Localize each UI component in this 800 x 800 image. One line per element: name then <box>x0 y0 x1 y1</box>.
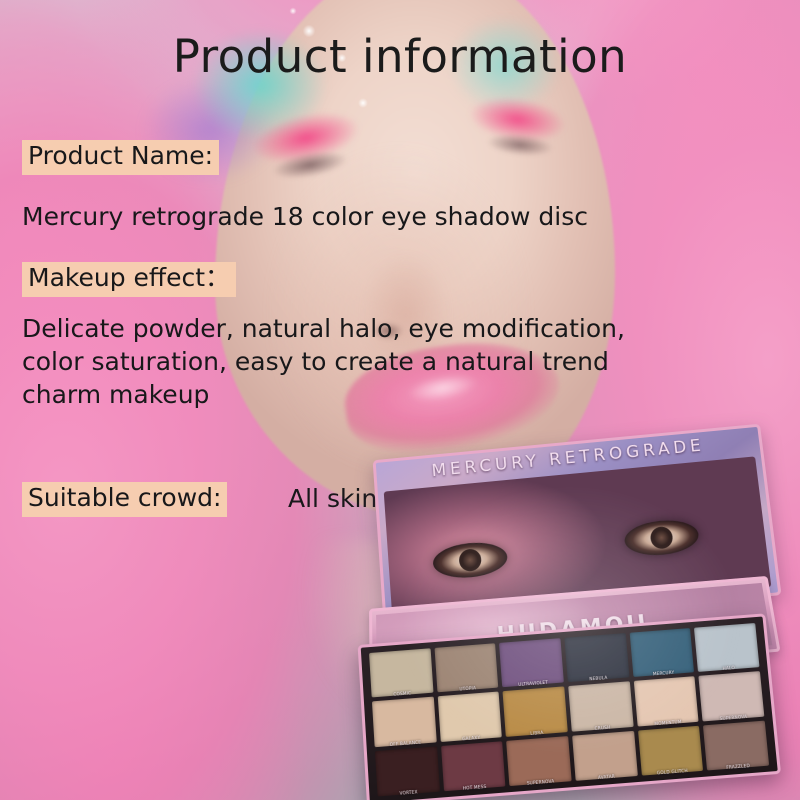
eyeshadow-pan: COSMIC <box>369 648 433 697</box>
page-title: Product information <box>0 30 800 83</box>
lid-artwork-pupil-left <box>458 548 482 572</box>
glitter-sparkle-icon <box>356 96 370 110</box>
eyeshadow-pan: OFF BALANCE <box>372 697 436 747</box>
eyeshadow-pan: HOT MESS <box>441 741 506 791</box>
eyeshadow-pan: LIBRA <box>503 687 568 737</box>
eyeshadow-pan: MOMENTUM <box>633 676 698 726</box>
eyeshadow-pan: ULTRAVIOLET <box>499 638 564 687</box>
eyeshadow-pan: HALO <box>694 623 759 672</box>
makeup-effect-label: Makeup effect： <box>22 262 236 297</box>
eyeshadow-pan: VORTEX <box>375 746 440 796</box>
lid-artwork-eye-left <box>432 540 509 581</box>
suitable-crowd-label: Suitable crowd: <box>22 482 227 517</box>
product-name-value: Mercury retrograde 18 color eye shadow d… <box>22 200 782 233</box>
eyeshadow-pan: SUPERNOVA <box>506 736 571 786</box>
eyeshadow-pan: GOLD GLITCH <box>638 725 704 775</box>
eyeshadow-pan: GALAXY <box>437 692 502 742</box>
eyeshadow-pan: NEBULA <box>564 633 629 682</box>
eyeshadow-pan-label: GOLD GLITCH <box>641 767 703 777</box>
product-name-label: Product Name: <box>22 140 219 175</box>
eyeshadow-palette-product: MERCURY RETROGRADE HUDAMOJI COSMICUTOPIA… <box>356 440 786 792</box>
eyeshadow-pan-label: HOT MESS <box>443 782 505 792</box>
eyeshadow-pan: SUPERNOVA <box>699 671 765 721</box>
lid-artwork-eye-right <box>623 517 700 558</box>
makeup-effect-value: Delicate powder, natural halo, eye modif… <box>22 312 782 411</box>
glitter-sparkle-icon <box>288 6 298 16</box>
eyeshadow-pan-label: SUPERNOVA <box>509 777 571 787</box>
eyeshadow-pan: CRUSH <box>568 682 633 732</box>
eyeshadow-pan: AVATAR <box>572 731 637 781</box>
lid-artwork-pupil-right <box>649 526 673 550</box>
eyeshadow-pan-label: VORTEX <box>377 788 439 798</box>
palette-pan-tray: COSMICUTOPIAULTRAVIOLETNEBULAMERCURYHALO… <box>358 613 781 800</box>
product-information-image: Product information Product Name: Mercur… <box>0 0 800 800</box>
eyeshadow-pan-label: AVATAR <box>575 772 637 782</box>
eyeshadow-pan-label: FRAZZLED <box>707 762 769 772</box>
eyeshadow-pan: MERCURY <box>629 628 694 677</box>
eyeshadow-pan: FRAZZLED <box>703 720 769 770</box>
palette-pan-grid: COSMICUTOPIAULTRAVIOLETNEBULAMERCURYHALO… <box>369 623 769 797</box>
eyeshadow-pan: UTOPIA <box>434 643 498 692</box>
